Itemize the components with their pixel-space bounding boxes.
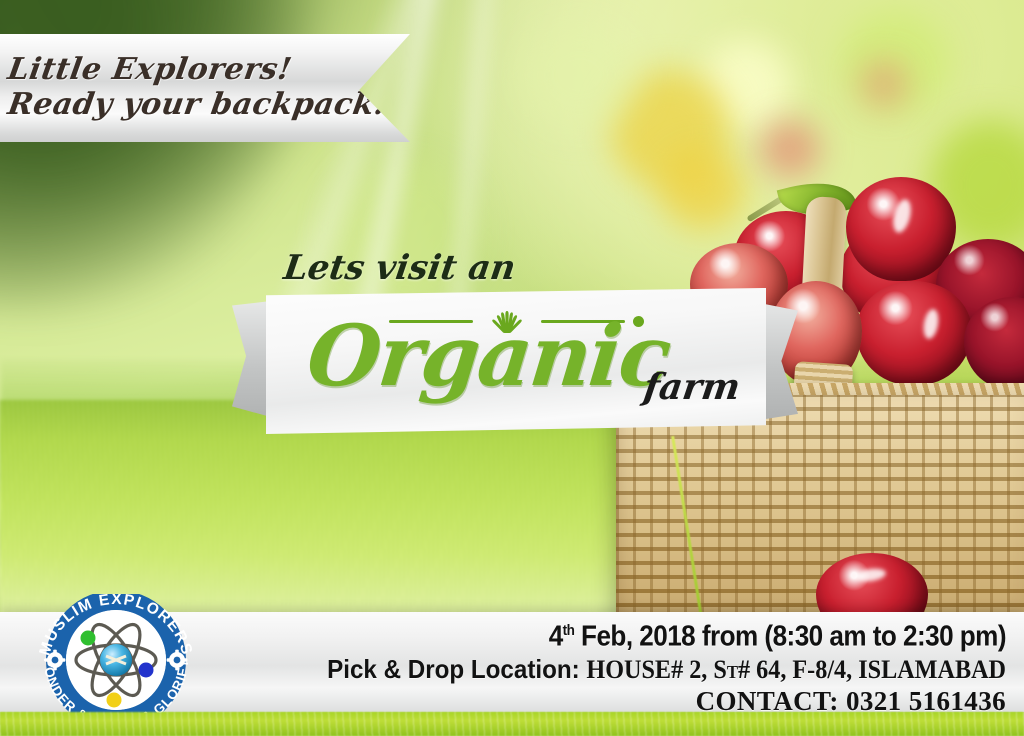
center-banner: Organic farm <box>266 288 766 434</box>
event-date-time: 4th Feb, 2018 from (8:30 am to 2:30 pm) <box>268 614 1006 654</box>
location-address-part1: HOUSE# 2, <box>586 655 713 684</box>
date-day: 4 <box>549 621 563 653</box>
bottom-grass-strip <box>0 712 1024 736</box>
electron-dot <box>139 663 154 678</box>
top-ribbon-banner: Little Explorers! Ready your backpack! <box>0 34 410 142</box>
ribbon-line-2: Ready your backpack! <box>5 87 413 123</box>
banner-main-word: Organic <box>303 308 643 404</box>
location-address-part2: # 64, F-8/4, ISLAMABAD <box>738 655 1006 684</box>
date-rest: Feb, 2018 from (8:30 am to 2:30 pm) <box>574 621 1006 653</box>
location-street-token: St <box>713 655 738 684</box>
muslim-explorers-logo: MUSLIM EXPLORERS PONDER & LEARN & GLORIF… <box>18 594 214 722</box>
location-label: Pick & Drop Location: <box>327 654 586 684</box>
organic-farm-trip-flyer: Little Explorers! Ready your backpack! L… <box>0 0 1024 736</box>
electron-dot <box>81 631 96 646</box>
bokeh-highlight <box>520 20 640 130</box>
intro-script-text: Lets visit an <box>281 248 518 288</box>
electron-dot <box>107 693 122 708</box>
red-apple <box>856 281 972 385</box>
center-banner-group: Organic farm <box>232 288 792 438</box>
date-ordinal: th <box>563 622 575 639</box>
banner-sub-word: farm <box>641 366 743 408</box>
ribbon-line-1: Little Explorers! <box>5 53 412 87</box>
bokeh-highlight <box>760 120 820 178</box>
pickup-location: Pick & Drop Location: HOUSE# 2, St# 64, … <box>243 654 1006 685</box>
bokeh-highlight <box>860 60 908 108</box>
